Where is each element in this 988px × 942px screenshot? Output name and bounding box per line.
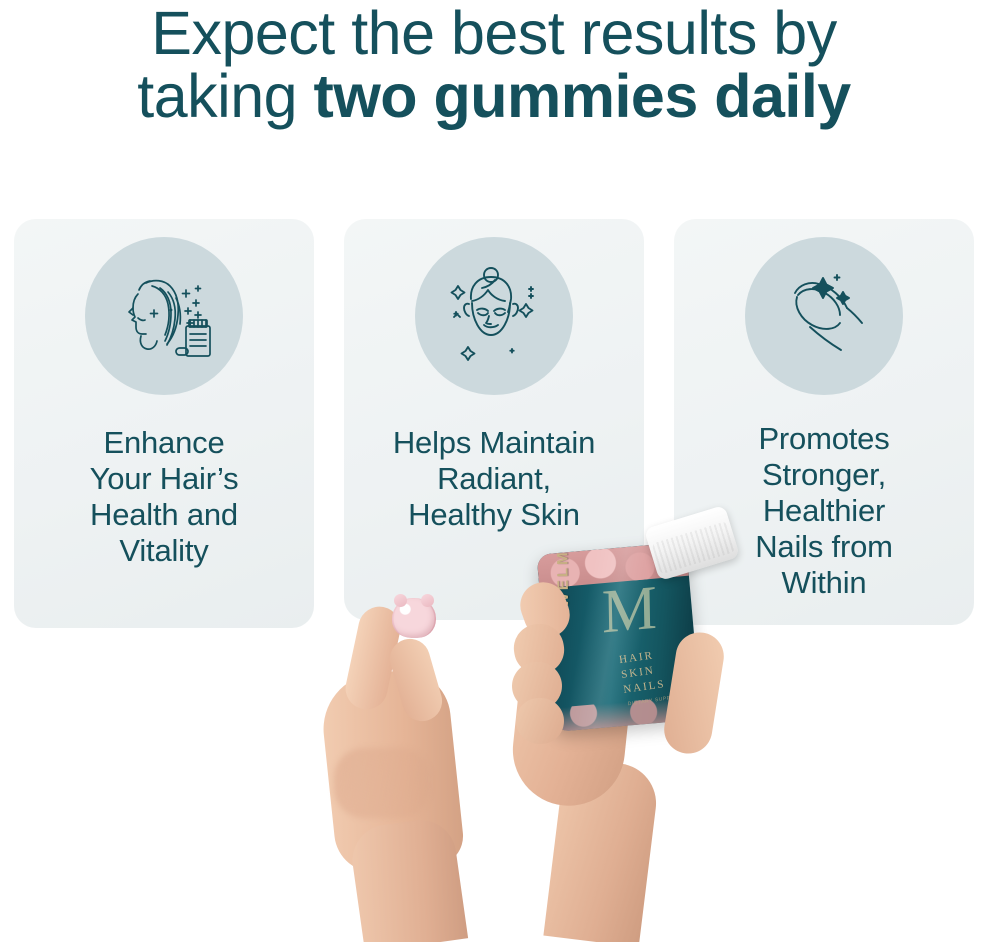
benefit-card-nails-label: Promotes Stronger, Healthier Nails from … [755, 421, 893, 601]
benefit-card-hair: Enhance Your Hair’s Health and Vitality [14, 219, 314, 628]
face-glow-sparkle-icon [415, 237, 573, 395]
product-label-sub: DIETARY SUPPLEMENT [627, 692, 695, 708]
right-hand-thumb [661, 629, 727, 757]
product-label-lines: HAIR SKIN NAILS [618, 647, 666, 697]
hand-holding-gummy [300, 598, 550, 942]
headline-line-2-bold: two gummies daily [314, 62, 851, 130]
headline-line-1: Expect the best results by [151, 0, 836, 67]
left-hand-knuckles [334, 748, 430, 818]
right-hand-finger-4 [515, 697, 565, 745]
left-hand-wrist [348, 815, 468, 942]
headline-line-2-regular: taking [137, 62, 313, 130]
left-hand-palm [318, 666, 466, 876]
bottle-gummies-bottom [550, 695, 702, 732]
left-hand-thumb [385, 634, 447, 726]
right-hand-finger-3 [510, 660, 563, 711]
hair-profile-sparkle-icon [85, 237, 243, 395]
benefit-card-row: Enhance Your Hair’s Health and Vitality [14, 219, 974, 628]
benefit-card-hair-label: Enhance Your Hair’s Health and Vitality [90, 425, 239, 569]
product-benefits-banner: Expect the best results by taking two gu… [0, 0, 988, 942]
fingernail-sparkle-icon [745, 237, 903, 395]
benefit-card-nails: Promotes Stronger, Healthier Nails from … [674, 219, 974, 625]
right-hand-wrist [543, 757, 660, 942]
page-title: Expect the best results by taking two gu… [0, 2, 988, 129]
benefit-card-skin: Helps Maintain Radiant, Healthy Skin [344, 219, 644, 620]
right-hand-finger-2 [510, 620, 568, 678]
benefit-card-skin-label: Helps Maintain Radiant, Healthy Skin [393, 425, 595, 533]
